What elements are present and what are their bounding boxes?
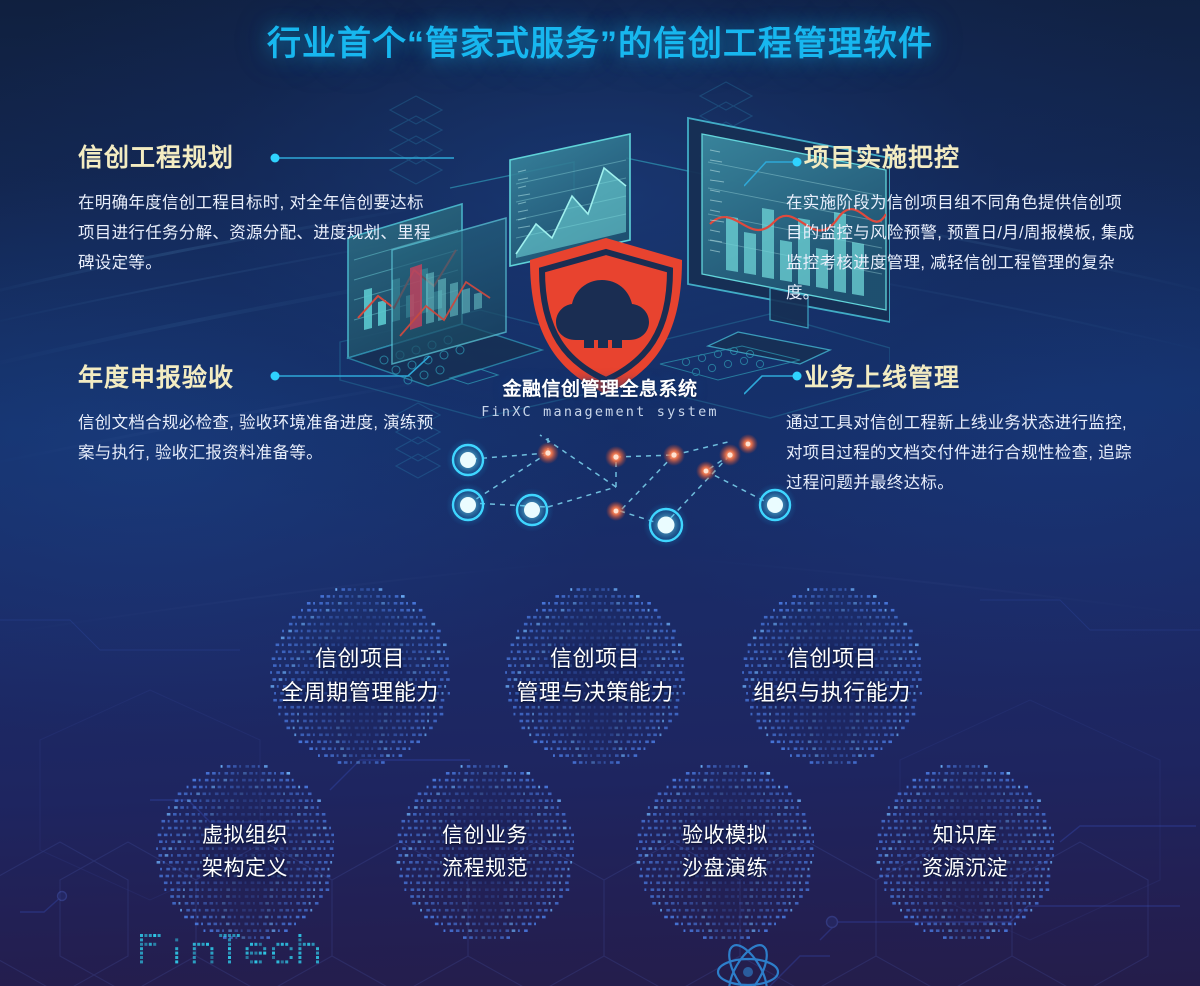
feature-implementation: 项目实施把控 在实施阶段为信创项目组不同角色提供信创项目的监控与风险预警, 预置… <box>786 138 1136 308</box>
infographic-canvas: 行业首个“管家式服务”的信创工程管理软件 <box>0 0 1200 986</box>
capability-circle: 虚拟组织 架构定义 <box>140 772 350 932</box>
capability-label-line1: 验收模拟 <box>682 819 768 852</box>
capability-circle: 信创项目 组织与执行能力 <box>722 596 942 756</box>
capability-circle: 知识库 资源沉淀 <box>860 772 1070 932</box>
capability-label: 信创项目 组织与执行能力 <box>753 642 911 710</box>
feature-business-launch-heading: 业务上线管理 <box>786 358 1136 394</box>
capability-label-line2: 组织与执行能力 <box>753 676 911 710</box>
capability-label-line1: 信创项目 <box>753 642 911 676</box>
capability-label-line2: 流程规范 <box>442 852 528 885</box>
node-network-decoration <box>420 415 840 550</box>
capability-circle: 信创项目 全周期管理能力 <box>250 596 470 756</box>
capability-label-line2: 沙盘演练 <box>682 852 768 885</box>
fintech-watermark <box>138 928 388 970</box>
capability-label-line2: 架构定义 <box>202 852 288 885</box>
capability-label: 信创项目 全周期管理能力 <box>281 642 439 710</box>
feature-annual-acceptance-heading: 年度申报验收 <box>78 358 438 394</box>
atom-icon <box>700 938 796 986</box>
feature-implementation-heading: 项目实施把控 <box>786 138 1136 174</box>
capability-label: 虚拟组织 架构定义 <box>202 819 288 885</box>
capability-label: 信创项目 管理与决策能力 <box>516 642 674 710</box>
feature-implementation-body: 在实施阶段为信创项目组不同角色提供信创项目的监控与风险预警, 预置日/月/周报模… <box>786 188 1136 308</box>
feature-planning-body: 在明确年度信创工程目标时, 对全年信创要达标项目进行任务分解、资源分配、进度规划… <box>78 188 438 278</box>
capability-label-line2: 全周期管理能力 <box>281 676 439 710</box>
page-title-text: 行业首个“管家式服务”的信创工程管理软件 <box>0 16 1200 65</box>
capability-label-line2: 管理与决策能力 <box>516 676 674 710</box>
capability-label-line1: 信创项目 <box>281 642 439 676</box>
capability-label-line1: 虚拟组织 <box>202 819 288 852</box>
shield-cloud-chart-icon <box>530 238 682 394</box>
capability-label-line1: 信创项目 <box>516 642 674 676</box>
capability-label: 知识库 资源沉淀 <box>922 819 1008 885</box>
capabilities-middle-row: 信创项目 全周期管理能力 信创项目 管理与决策能力 信创项目 组织与执行能力 <box>0 596 1200 756</box>
node-orange-dots <box>537 434 758 521</box>
feature-planning: 信创工程规划 在明确年度信创工程目标时, 对全年信创要达标项目进行任务分解、资源… <box>78 138 438 278</box>
capability-label: 信创业务 流程规范 <box>442 819 528 885</box>
capability-label: 验收模拟 沙盘演练 <box>682 819 768 885</box>
feature-planning-heading: 信创工程规划 <box>78 138 438 174</box>
feature-annual-acceptance-body: 信创文档合规必检查, 验收环境准备进度, 演练预案与执行, 验收汇报资料准备等。 <box>78 408 438 468</box>
feature-annual-acceptance: 年度申报验收 信创文档合规必检查, 验收环境准备进度, 演练预案与执行, 验收汇… <box>78 358 438 468</box>
capability-label-line2: 资源沉淀 <box>922 852 1008 885</box>
capabilities-lower-row: 虚拟组织 架构定义 信创业务 流程规范 验收模拟 沙盘演练 知识库 资源沉淀 <box>0 772 1200 932</box>
capability-circle: 信创业务 流程规范 <box>380 772 590 932</box>
capability-label-line1: 信创业务 <box>442 819 528 852</box>
capability-circle: 信创项目 管理与决策能力 <box>485 596 705 756</box>
capability-circle: 验收模拟 沙盘演练 <box>620 772 830 932</box>
page-title: 行业首个“管家式服务”的信创工程管理软件 <box>0 16 1200 65</box>
capability-label-line1: 知识库 <box>922 819 1008 852</box>
